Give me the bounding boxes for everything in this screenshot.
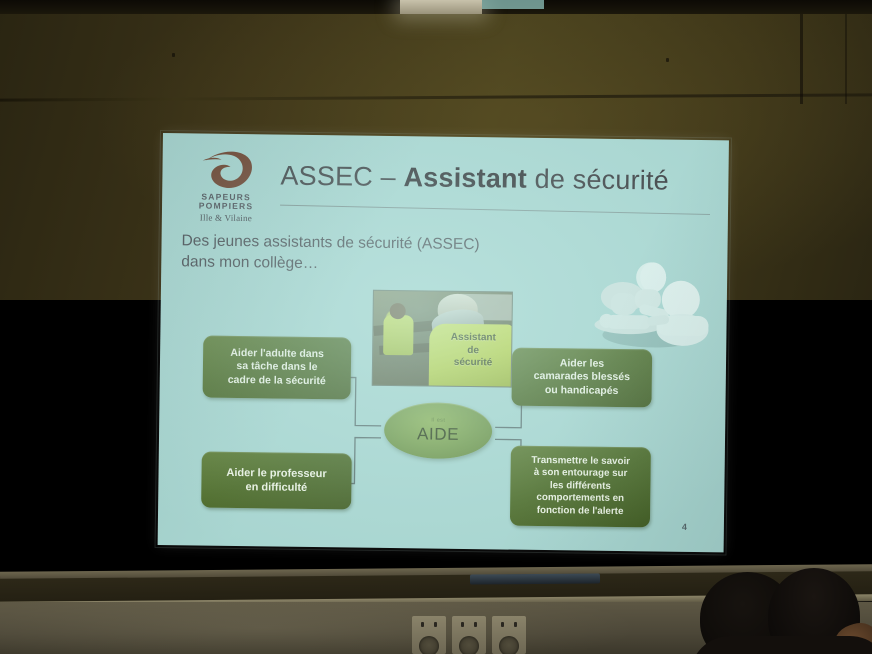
outlet-hole	[499, 636, 519, 654]
logo-line-3: Ille & Vilaine	[180, 212, 272, 223]
power-outlet	[452, 616, 486, 654]
classroom-photo: Assistant de sécurité	[372, 290, 513, 388]
title-prefix: ASSEC –	[280, 161, 404, 193]
box-text: Aider l'adulte dans sa tâche dans le cad…	[228, 347, 327, 389]
photo-student-background-head	[390, 303, 406, 319]
box-text: Transmettre le savoir à son entourage su…	[531, 455, 630, 519]
logo-line-2: POMPIERS	[180, 200, 272, 211]
title-emphasis: Assistant	[403, 162, 527, 194]
box-text: Aider le professeur en difficulté	[226, 466, 327, 495]
outlet-pin	[421, 622, 424, 627]
first-aid-figures-icon	[590, 237, 711, 354]
flow-box-help-teacher[interactable]: Aider le professeur en difficulté	[201, 452, 352, 510]
center-node-label: AIDE	[417, 424, 459, 445]
slide-title: ASSEC – Assistant de sécurité	[280, 161, 710, 198]
wall-speck	[172, 53, 175, 57]
slide-subtitle: Des jeunes assistants de sécurité (ASSEC…	[181, 231, 572, 278]
flow-center-node-aide[interactable]: Il est AIDE	[384, 402, 493, 459]
flow-box-help-adult[interactable]: Aider l'adulte dans sa tâche dans le cad…	[203, 336, 352, 400]
box-text: Aider les camarades blessés ou handicapé…	[533, 357, 630, 399]
outlet-hole	[419, 636, 439, 654]
flow-box-help-classmates[interactable]: Aider les camarades blessés ou handicapé…	[511, 348, 652, 408]
person-shoulders	[690, 636, 872, 654]
title-underline	[280, 205, 710, 215]
vest-text-line-2: de	[431, 344, 513, 358]
wall-edge-line-secondary	[845, 14, 847, 104]
wall-speck	[666, 58, 669, 62]
outlet-pin	[434, 622, 437, 627]
flow-box-transmit-knowledge[interactable]: Transmettre le savoir à son entourage su…	[510, 446, 651, 528]
photo-vest-text: Assistant de sécurité	[431, 332, 513, 371]
center-node-sublabel: Il est	[431, 417, 445, 423]
outlet-pin	[474, 622, 477, 627]
power-outlet	[412, 616, 446, 654]
classroom-scene: SAPEURS POMPIERS Ille & Vilaine ASSEC – …	[0, 0, 872, 654]
vest-text-line-3: sécurité	[431, 357, 513, 371]
vest-text-line-1: Assistant	[431, 332, 513, 346]
outlet-pin	[501, 622, 504, 627]
power-outlet	[492, 616, 526, 654]
outlet-pin	[461, 622, 464, 627]
audience-person-silhouette	[690, 566, 872, 654]
subtitle-line-2: dans mon collège…	[181, 252, 571, 278]
presentation-slide: SAPEURS POMPIERS Ille & Vilaine ASSEC – …	[158, 133, 729, 552]
wall-edge-line	[800, 14, 803, 104]
title-suffix: de sécurité	[527, 164, 669, 196]
outlet-hole	[459, 636, 479, 654]
sapeurs-pompiers-logo: SAPEURS POMPIERS Ille & Vilaine	[180, 147, 273, 226]
slide-page-number: 4	[682, 522, 687, 532]
outlet-pin	[514, 622, 517, 627]
desk-object	[470, 573, 600, 584]
flame-swoosh-icon	[198, 147, 259, 194]
ceiling-light	[400, 0, 482, 14]
projection-screen: SAPEURS POMPIERS Ille & Vilaine ASSEC – …	[158, 133, 729, 552]
ceiling-light-secondary	[482, 0, 544, 9]
photo-student-background	[383, 315, 414, 355]
